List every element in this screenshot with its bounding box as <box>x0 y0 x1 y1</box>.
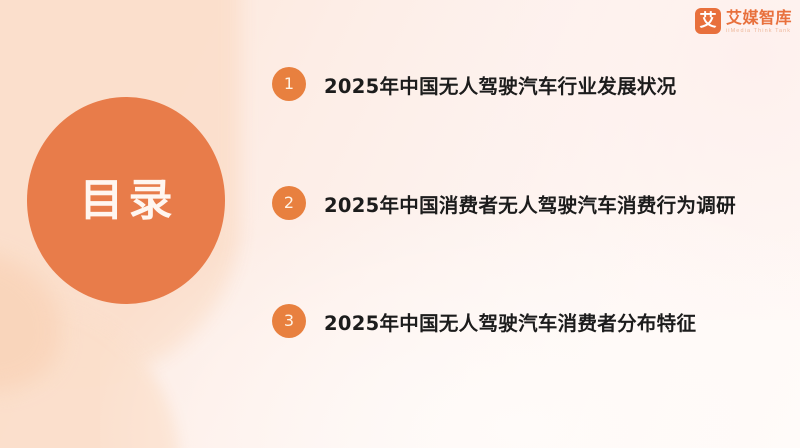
logo-subtitle: iiMedia Think Tank <box>726 27 792 36</box>
page-title: 目录 <box>75 179 178 223</box>
contents-heading-circle: 目录 <box>27 97 225 304</box>
list-item-label: 2025年中国无人驾驶汽车行业发展状况 <box>324 70 676 99</box>
list-item[interactable]: 1 2025年中国无人驾驶汽车行业发展状况 <box>272 67 676 101</box>
logo-text-group: 艾媒智库 iiMedia Think Tank <box>726 8 792 35</box>
logo-mark-icon: 艾 <box>695 8 721 34</box>
list-item-number-badge: 3 <box>272 304 306 338</box>
logo-name: 艾媒智库 <box>726 9 792 27</box>
slide-canvas: 艾 艾媒智库 iiMedia Think Tank 目录 1 2025年中国无人… <box>0 0 800 448</box>
list-item-label: 2025年中国无人驾驶汽车消费者分布特征 <box>324 307 696 336</box>
list-item-label: 2025年中国消费者无人驾驶汽车消费行为调研 <box>324 189 736 218</box>
list-item[interactable]: 3 2025年中国无人驾驶汽车消费者分布特征 <box>272 304 696 338</box>
list-item[interactable]: 2 2025年中国消费者无人驾驶汽车消费行为调研 <box>272 186 736 220</box>
list-item-number-badge: 2 <box>272 186 306 220</box>
brand-logo: 艾 艾媒智库 iiMedia Think Tank <box>695 8 792 35</box>
list-item-number-badge: 1 <box>272 67 306 101</box>
